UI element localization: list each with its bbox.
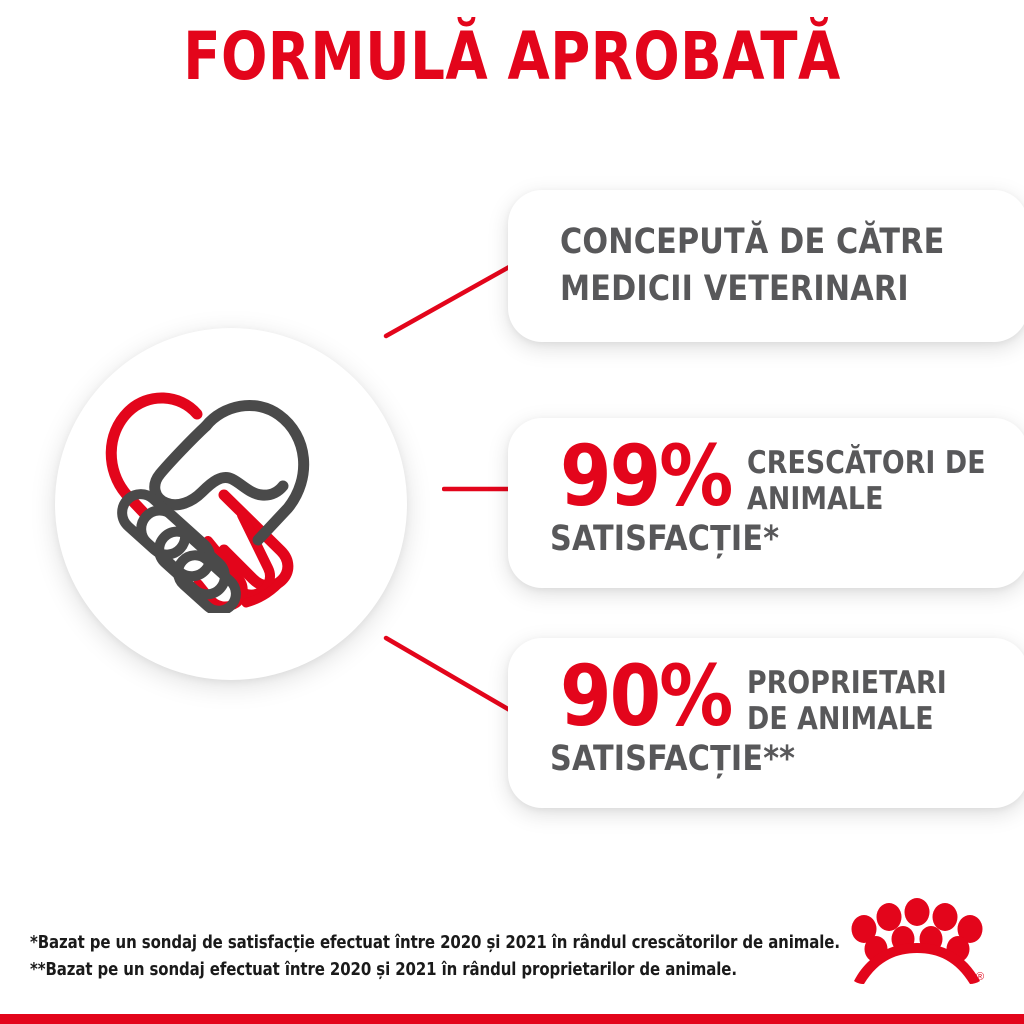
- page-title: FORMULĂ APROBATĂ: [41, 24, 983, 90]
- card-owners-percent: 90%: [560, 654, 731, 738]
- card-vets-line2: MEDICII VETERINARI: [560, 266, 944, 313]
- card-owners-label-line1: PROPRIETARI: [747, 665, 947, 701]
- card-vets: CONCEPUTĂ DE CĂTRE MEDICII VETERINARI: [508, 190, 1024, 342]
- footnote-line-1: *Bazat pe un sondaj de satisfacție efect…: [30, 930, 840, 957]
- infographic-canvas: FORMULĂ APROBATĂ: [0, 0, 1024, 1024]
- card-owners-label: PROPRIETARI DE ANIMALE: [747, 665, 947, 738]
- registered-mark: ®: [976, 971, 984, 983]
- card-owners-label-line2: DE ANIMALE: [747, 701, 934, 737]
- card-vets-line1: CONCEPUTĂ DE CĂTRE: [560, 219, 944, 266]
- card-breeders-label-line1: CRESCĂTORI DE: [747, 445, 986, 481]
- card-breeders-label: CRESCĂTORI DE ANIMALE: [747, 445, 986, 518]
- connector-line-owners: [382, 634, 524, 720]
- card-owners-subtitle: SATISFACȚIE**: [550, 742, 795, 777]
- royal-canin-crown-logo: ®: [846, 898, 988, 986]
- card-owners-stat-row: 90% PROPRIETARI DE ANIMALE: [560, 654, 955, 738]
- card-owners: 90% PROPRIETARI DE ANIMALE SATISFACȚIE**: [508, 638, 1024, 808]
- card-breeders-stat-row: 99% CRESCĂTORI DE ANIMALE: [560, 434, 995, 518]
- card-vets-text: CONCEPUTĂ DE CĂTRE MEDICII VETERINARI: [560, 219, 944, 312]
- handshake-heart-icon: [96, 378, 346, 613]
- card-breeders-percent: 99%: [560, 434, 731, 518]
- card-breeders: 99% CRESCĂTORI DE ANIMALE SATISFACȚIE*: [508, 418, 1024, 588]
- connector-line-vets: [382, 258, 522, 340]
- footnotes: *Bazat pe un sondaj de satisfacție efect…: [30, 930, 840, 983]
- card-breeders-label-line2: ANIMALE: [747, 481, 883, 517]
- bottom-accent-bar: [0, 1014, 1024, 1024]
- card-breeders-subtitle: SATISFACȚIE*: [550, 522, 779, 557]
- footnote-line-2: **Bazat pe un sondaj efectuat între 2020…: [30, 957, 840, 984]
